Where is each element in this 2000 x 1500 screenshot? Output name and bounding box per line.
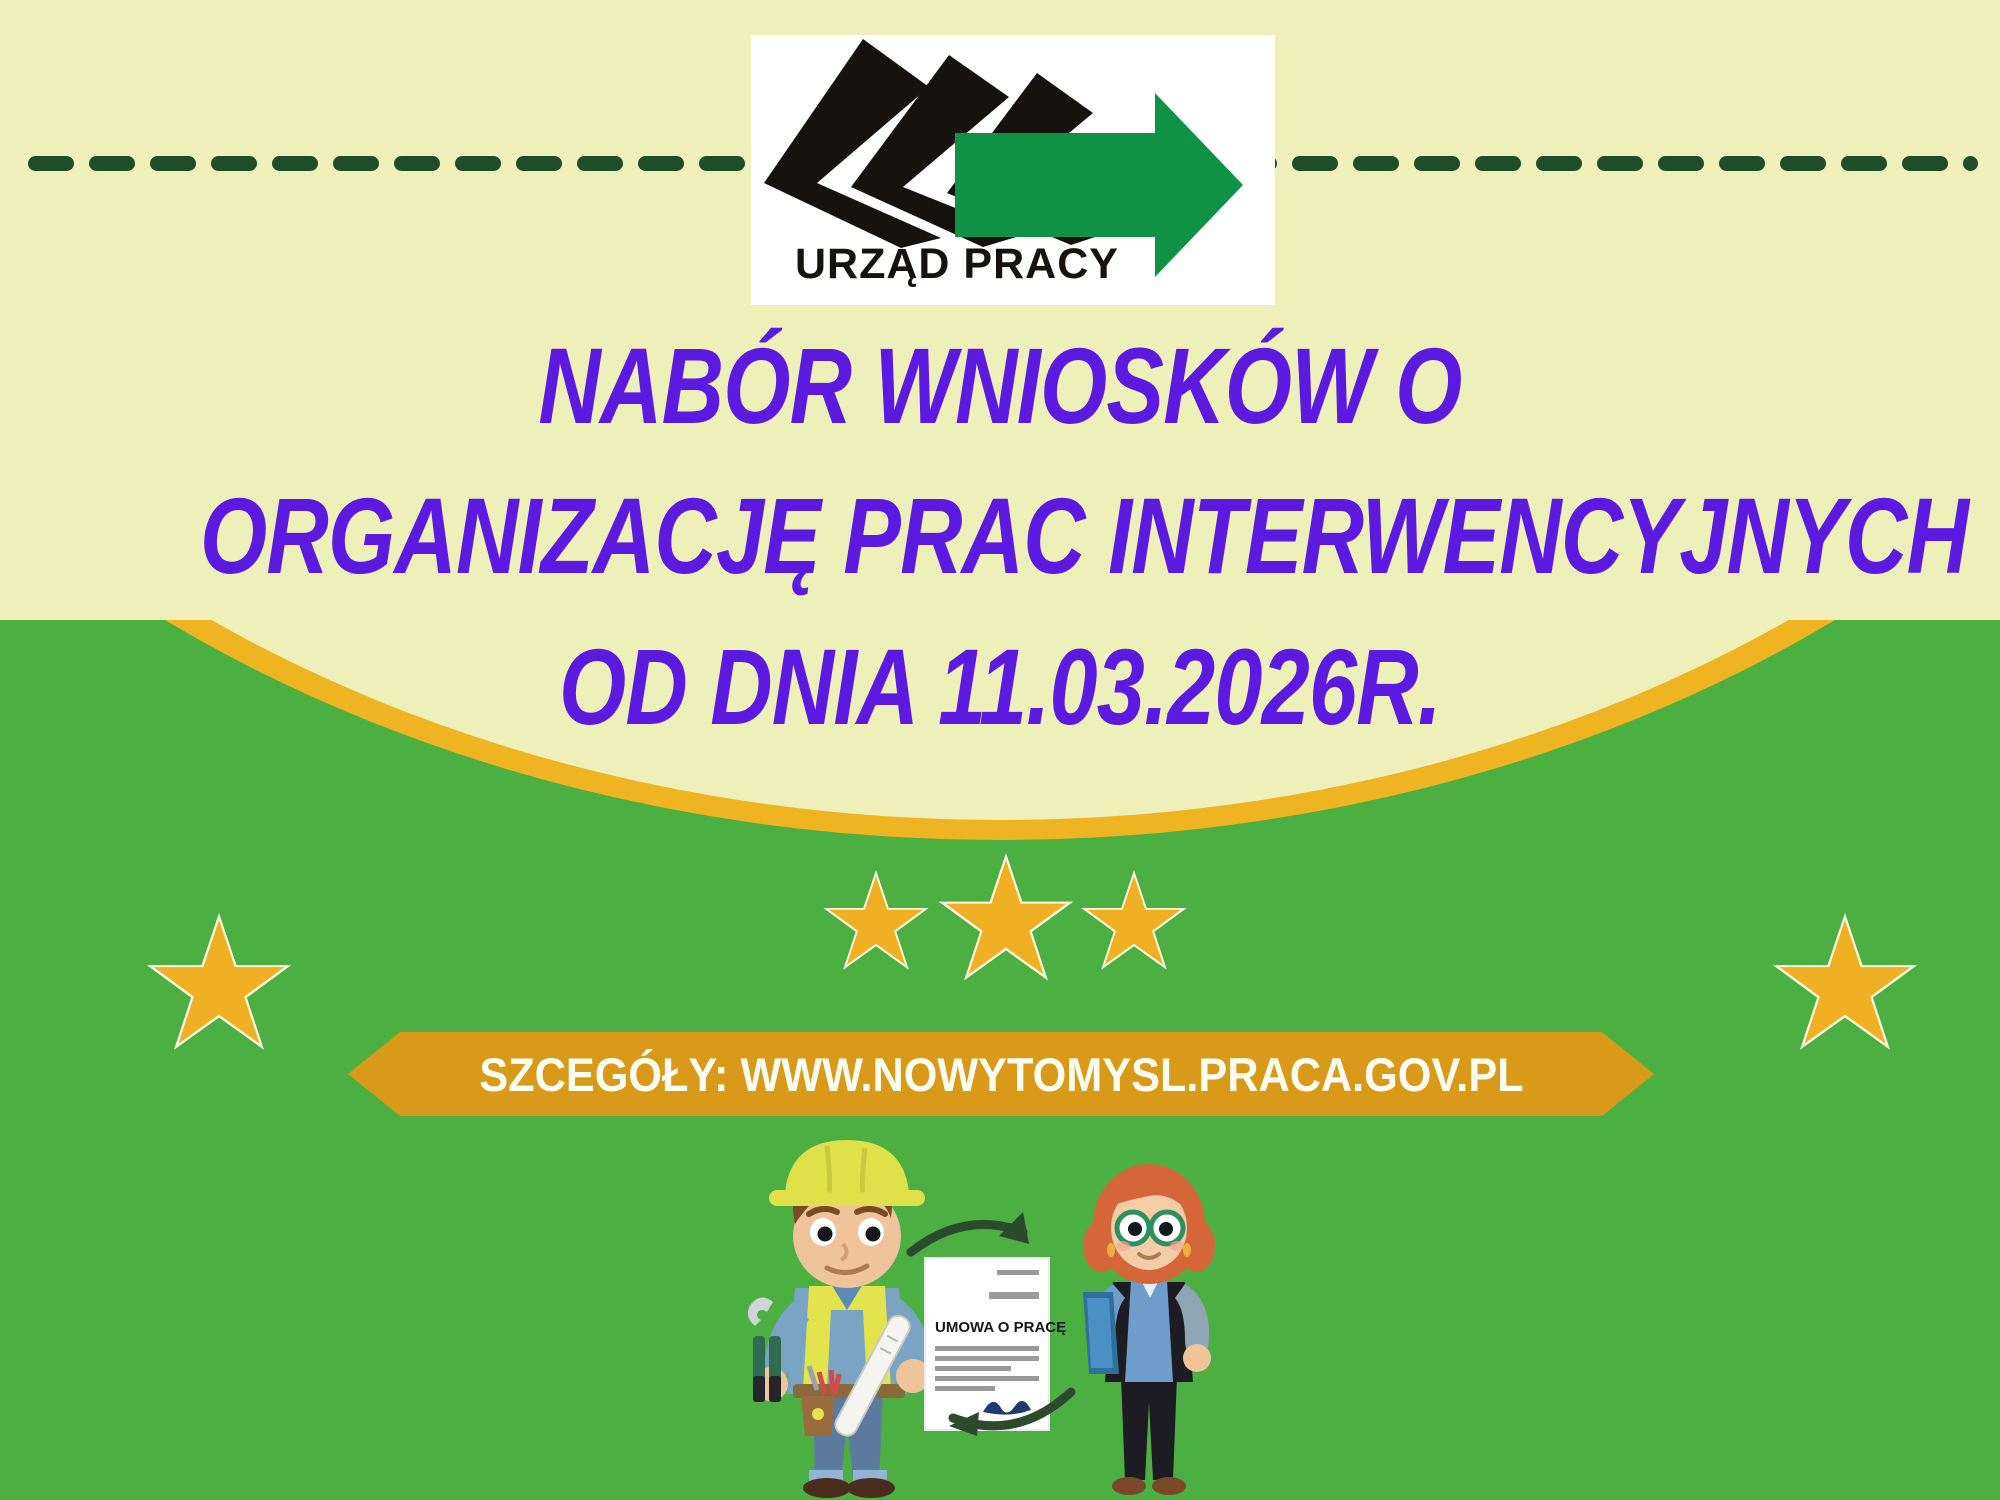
star-icon bbox=[944, 860, 1068, 984]
dash-segment bbox=[1536, 156, 1582, 171]
poster-canvas: URZĄD PRACY NABÓR WNIOSKÓW O ORGANIZACJĘ… bbox=[0, 0, 2000, 1500]
document-title-text: UMOWA O PRACĘ bbox=[935, 1319, 1066, 1336]
dash-segment bbox=[28, 156, 74, 171]
dash-segment bbox=[1414, 156, 1460, 171]
star-icon bbox=[1086, 876, 1182, 972]
dash-segment bbox=[1597, 156, 1643, 171]
dash-segment bbox=[516, 156, 562, 171]
details-ribbon-banner[interactable]: SZCEGÓŁY: WWW.NOWYTOMYSL.PRACA.GOV.PL bbox=[348, 1032, 1654, 1116]
dash-segment bbox=[150, 156, 196, 171]
dash-segment bbox=[1658, 156, 1704, 171]
dash-segment bbox=[1841, 156, 1887, 171]
dash-segment bbox=[1719, 156, 1765, 171]
dash-segment bbox=[333, 156, 379, 171]
worker-agreement-illustration: UMOWA O PRACĘ bbox=[735, 1140, 1255, 1500]
employment-contract-document: UMOWA O PRACĘ bbox=[925, 1258, 1066, 1430]
dash-segment bbox=[1963, 156, 1978, 171]
star-icon bbox=[1778, 920, 1912, 1054]
headline-block: NABÓR WNIOSKÓW O ORGANIZACJĘ PRAC INTERW… bbox=[0, 330, 2000, 743]
dashed-rule-left bbox=[28, 152, 688, 174]
urzad-pracy-logo: URZĄD PRACY bbox=[751, 35, 1275, 305]
dash-segment bbox=[638, 156, 684, 171]
headline-line-1: NABÓR WNIOSKÓW O bbox=[200, 330, 1800, 442]
dash-segment bbox=[1353, 156, 1399, 171]
headline-line-2: ORGANIZACJĘ PRAC INTERWENCYJNYCH bbox=[200, 480, 1800, 592]
dash-segment bbox=[455, 156, 501, 171]
dash-segment bbox=[394, 156, 440, 171]
dash-segment bbox=[577, 156, 623, 171]
dashed-rule-right bbox=[1318, 152, 1978, 174]
hardhat-icon bbox=[769, 1140, 925, 1206]
dash-segment bbox=[699, 156, 745, 171]
dash-segment bbox=[272, 156, 318, 171]
dash-segment bbox=[1475, 156, 1521, 171]
details-url-label: SZCEGÓŁY: WWW.NOWYTOMYSL.PRACA.GOV.PL bbox=[479, 1047, 1523, 1102]
construction-worker-figure bbox=[748, 1140, 930, 1498]
dash-segment bbox=[211, 156, 257, 171]
logo-caption: URZĄD PRACY bbox=[795, 240, 1119, 289]
dash-segment bbox=[1292, 156, 1338, 171]
dash-segment bbox=[89, 156, 135, 171]
star-icon bbox=[152, 920, 286, 1054]
star-icon bbox=[828, 876, 924, 972]
headline-line-3: OD DNIA 11.03.2026R. bbox=[200, 631, 1800, 743]
office-worker-woman-figure bbox=[1083, 1164, 1215, 1495]
dash-segment bbox=[1902, 156, 1948, 171]
dash-segment bbox=[1780, 156, 1826, 171]
